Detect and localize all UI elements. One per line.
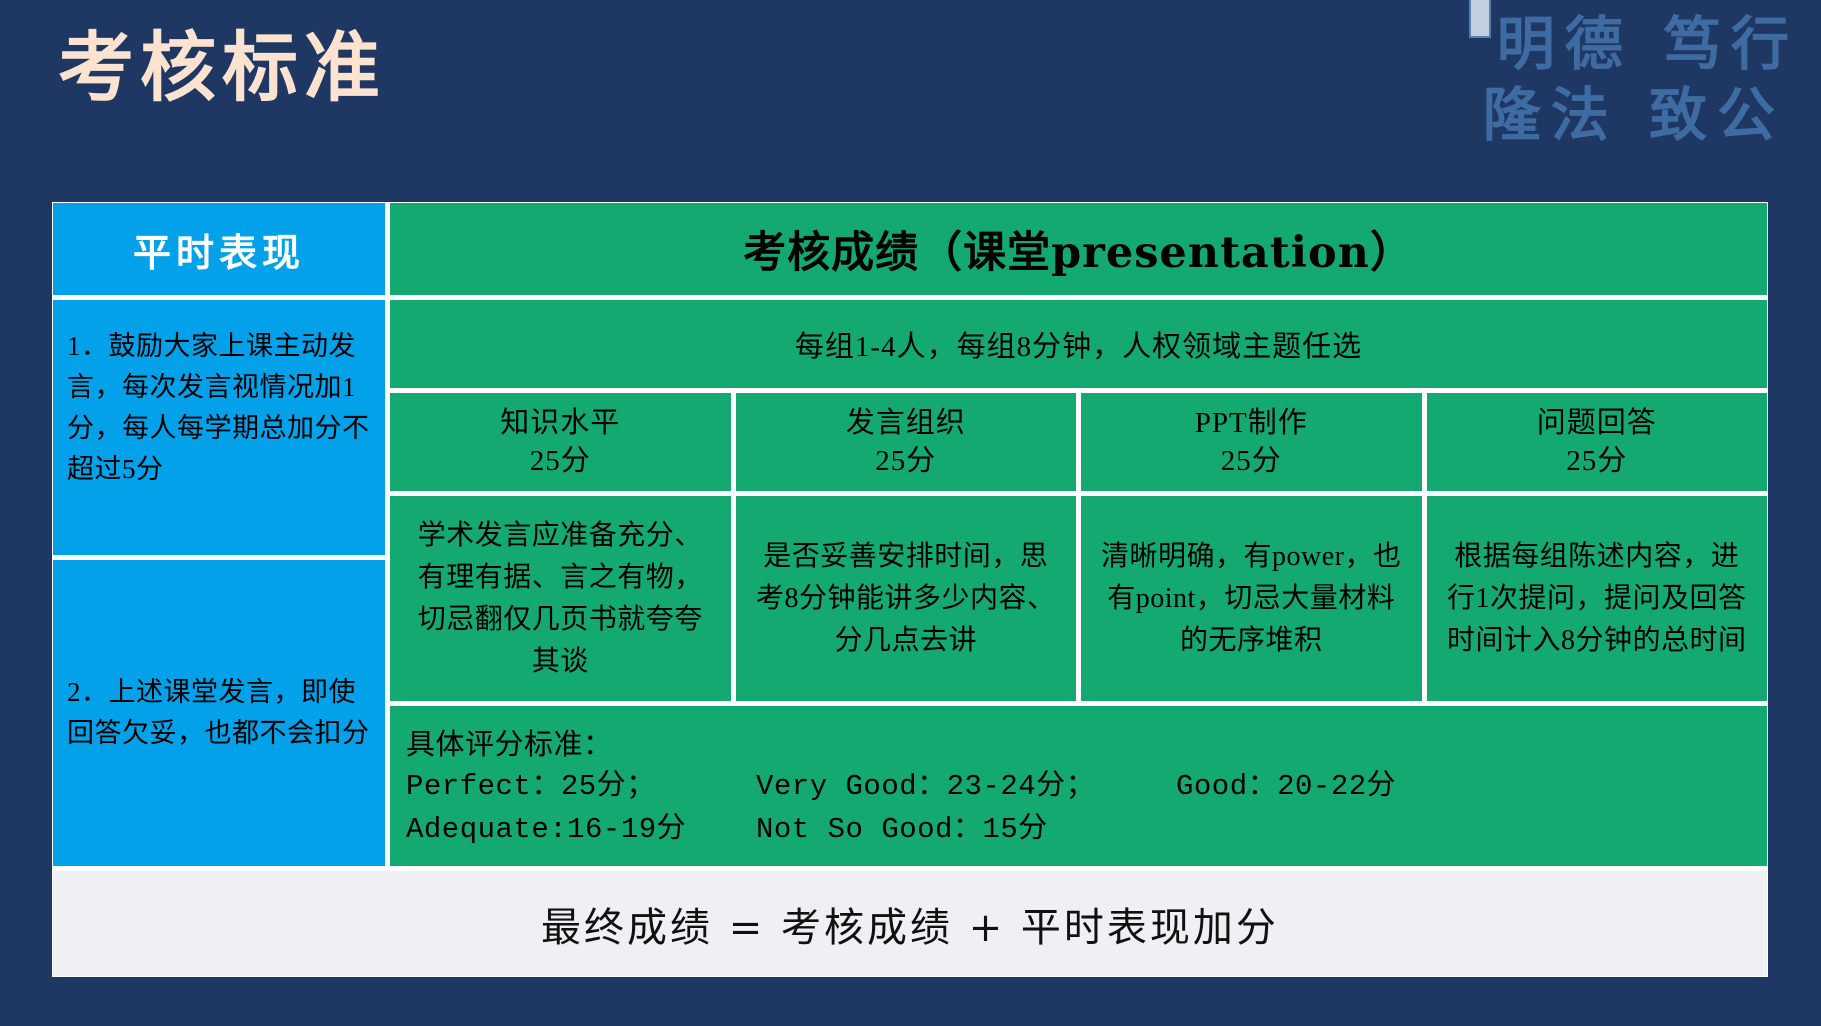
scoring-scale-row-1: Perfect：25分； Very Good：23-24分； Good：20-2… [406,766,1751,808]
scale-perfect: Perfect：25分； [406,766,756,808]
criteria-header-qa: 问题回答 25分 [1427,393,1768,491]
scoring-scale-row-2: Adequate:16-19分 Not So Good：15分 [406,809,1751,851]
criteria-desc-knowledge: 学术发言应准备充分、有理有据、言之有物，切忌翻仅几页书就夸夸其谈 [390,496,731,701]
institution-watermark: 明德 笃行 隆法 致公 [1469,2,1799,151]
criteria-desc-organization: 是否妥善安排时间，思考8分钟能讲多少内容、分几点去讲 [736,496,1077,701]
criteria-header-knowledge: 知识水平 25分 [390,393,731,491]
criteria-header-row: 知识水平 25分 发言组织 25分 PPT制作 25分 问题回答 25分 [390,393,1767,491]
routine-performance-note-1: 1．鼓励大家上课主动发言，每次发言视情况加1分，每人每学期总加分不超过5分 [53,300,385,555]
routine-performance-column: 平时表现 1．鼓励大家上课主动发言，每次发言视情况加1分，每人每学期总加分不超过… [53,203,385,866]
routine-performance-header: 平时表现 [53,203,385,295]
criteria-score-organization: 25分 [875,442,936,480]
page-title: 考核标准 [58,26,386,110]
group-rule-row: 每组1-4人，每组8分钟，人权领域主题任选 [390,300,1767,388]
scale-not-so-good: Not So Good：15分 [756,809,1176,851]
criteria-description-row: 学术发言应准备充分、有理有据、言之有物，切忌翻仅几页书就夸夸其谈 是否妥善安排时… [390,496,1767,701]
final-score-formula: 最终成绩 = 考核成绩 + 平时表现加分 [53,866,1767,976]
criteria-desc-ppt: 清晰明确，有power，也有point，切忌大量材料的无序堆积 [1081,496,1422,701]
scoring-scale-box: 具体评分标准： Perfect：25分； Very Good：23-24分； G… [390,706,1767,866]
criteria-header-organization: 发言组织 25分 [736,393,1077,491]
watermark-line-2: 隆法 致公 [1469,80,1799,151]
criteria-name-ppt: PPT制作 [1195,404,1308,442]
table-body: 平时表现 1．鼓励大家上课主动发言，每次发言视情况加1分，每人每学期总加分不超过… [53,203,1767,866]
criteria-name-qa: 问题回答 [1537,404,1657,442]
criteria-score-qa: 25分 [1566,442,1627,480]
criteria-score-ppt: 25分 [1221,442,1282,480]
seal-stamp-icon [1469,0,1491,38]
criteria-desc-qa: 根据每组陈述内容，进行1次提问，提问及回答时间计入8分钟的总时间 [1427,496,1768,701]
presentation-score-header: 考核成绩（课堂presentation） [390,203,1767,295]
scale-row2-spacer [1176,809,1751,851]
scale-adequate: Adequate:16-19分 [406,809,756,851]
scoring-scale-title: 具体评分标准： [406,724,1751,766]
scale-very-good: Very Good：23-24分； [756,766,1176,808]
routine-performance-note-2: 2．上述课堂发言，即使回答欠妥，也都不会扣分 [53,560,385,866]
watermark-line-1-text: 明德 笃行 [1497,10,1799,78]
presentation-score-column: 考核成绩（课堂presentation） 每组1-4人，每组8分钟，人权领域主题… [390,203,1767,866]
scale-good: Good：20-22分 [1176,766,1751,808]
criteria-name-organization: 发言组织 [846,404,966,442]
grading-criteria-table: 平时表现 1．鼓励大家上课主动发言，每次发言视情况加1分，每人每学期总加分不超过… [52,202,1768,977]
criteria-header-ppt: PPT制作 25分 [1081,393,1422,491]
criteria-name-knowledge: 知识水平 [500,404,620,442]
watermark-line-1: 明德 笃行 [1469,2,1799,80]
criteria-score-knowledge: 25分 [530,442,591,480]
